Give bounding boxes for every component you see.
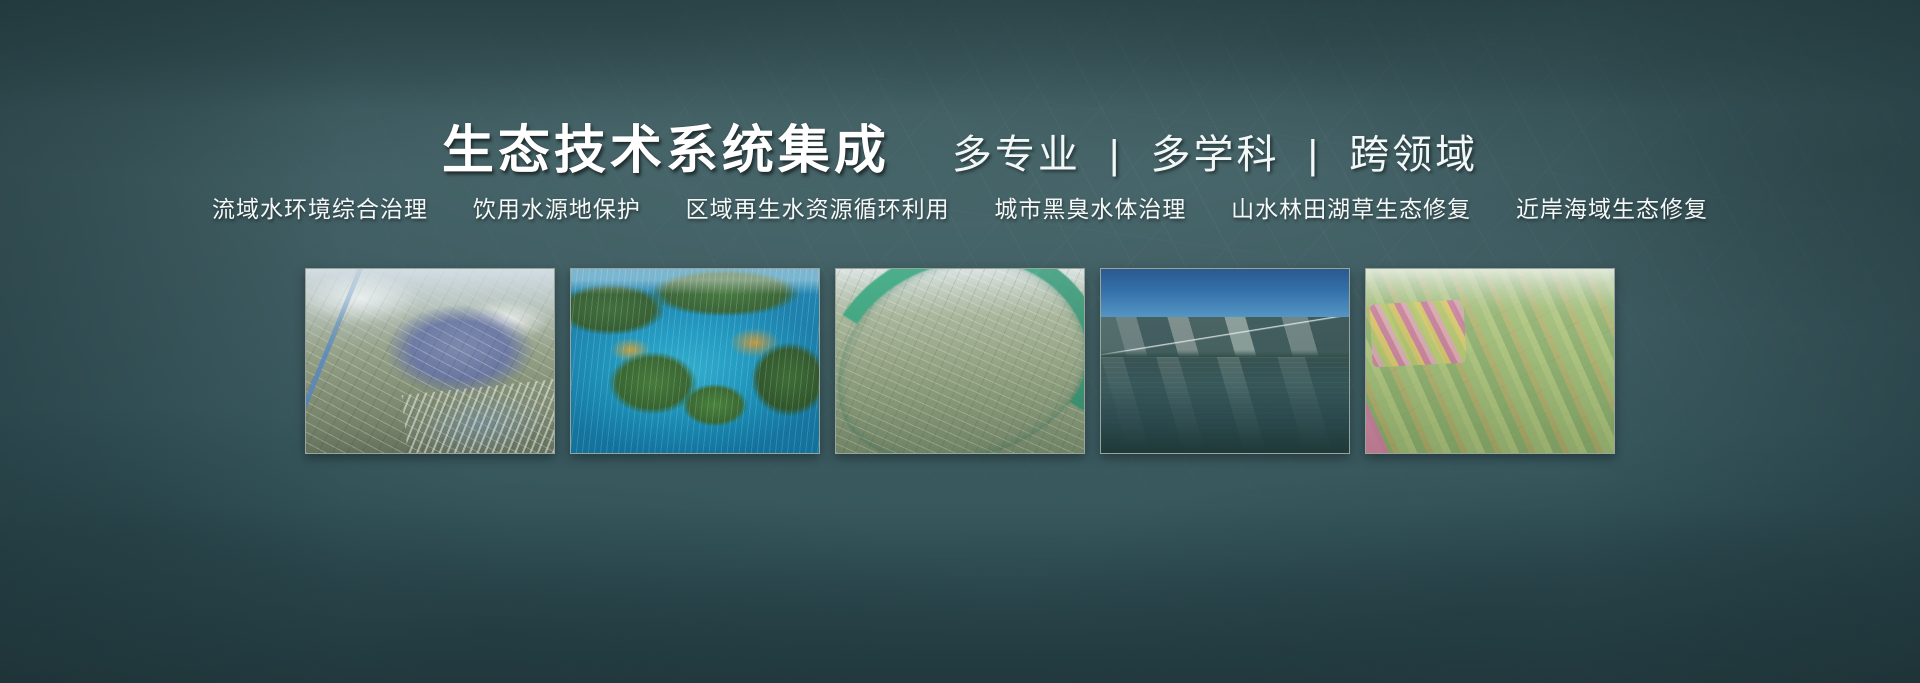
- thumbnail-image-water-source: [571, 269, 819, 453]
- headline-sub-part-2: 多学科: [1151, 133, 1280, 177]
- headline-subtitle: 多专业 | 多学科 | 跨领域: [952, 122, 1478, 180]
- tagline-item-1: 流域水环境综合治理: [212, 190, 428, 224]
- headline-sub-separator-2: |: [1308, 133, 1321, 178]
- headline-sub-part-3: 跨领域: [1349, 133, 1478, 177]
- tagline-item-6: 近岸海域生态修复: [1516, 190, 1708, 224]
- thumbnail-strip: [0, 268, 1920, 454]
- ecology-banner: 生态技术系统集成 多专业 | 多学科 | 跨领域 流域水环境综合治理 饮用水源地…: [0, 0, 1920, 683]
- thumbnail-image-reclaimed-water: [836, 269, 1084, 453]
- headline-row: 生态技术系统集成 多专业 | 多学科 | 跨领域: [0, 108, 1920, 183]
- tagline-item-4: 城市黑臭水体治理: [994, 190, 1186, 224]
- thumbnail-image-coastal-restoration: [1101, 269, 1349, 453]
- headline-main: 生态技术系统集成: [442, 108, 890, 183]
- tagline-item-5: 山水林田湖草生态修复: [1231, 190, 1471, 224]
- tagline-row: 流域水环境综合治理 饮用水源地保护 区域再生水资源循环利用 城市黑臭水体治理 山…: [0, 190, 1920, 224]
- banner-content: 生态技术系统集成 多专业 | 多学科 | 跨领域 流域水环境综合治理 饮用水源地…: [0, 0, 1920, 683]
- thumbnail-item[interactable]: [305, 268, 555, 454]
- tagline-item-3: 区域再生水资源循环利用: [686, 190, 950, 224]
- thumbnail-item[interactable]: [1100, 268, 1350, 454]
- headline-sub-part-1: 多专业: [952, 133, 1081, 177]
- thumbnail-item[interactable]: [570, 268, 820, 454]
- tagline-item-2: 饮用水源地保护: [473, 190, 641, 224]
- headline-sub-separator-1: |: [1109, 133, 1122, 178]
- thumbnail-item[interactable]: [835, 268, 1085, 454]
- thumbnail-image-watershed: [306, 269, 554, 453]
- thumbnail-image-farmland-restoration: [1366, 269, 1614, 453]
- thumbnail-item[interactable]: [1365, 268, 1615, 454]
